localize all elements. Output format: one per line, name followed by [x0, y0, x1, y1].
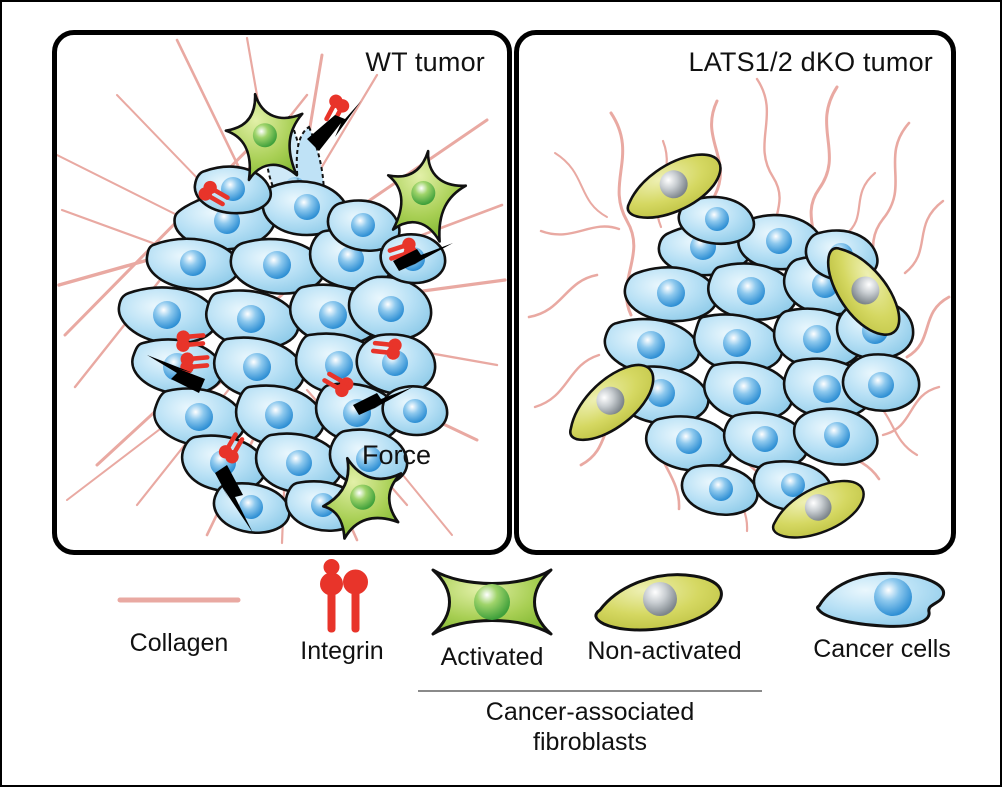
- caf-group-line2: fibroblasts: [395, 728, 785, 758]
- caf-group-bracket: Cancer-associated fibroblasts: [395, 690, 785, 757]
- force-label: Force: [362, 440, 431, 471]
- legend-item-cancer-cells: Cancer cells: [772, 564, 992, 662]
- panel-dko-title: LATS1/2 dKO tumor: [688, 47, 933, 78]
- panel-dko-tumor: LATS1/2 dKO tumor: [514, 30, 956, 555]
- nonactivated-fibroblast-icon: [547, 566, 782, 638]
- legend-item-nonactivated-caf: Non-activated: [547, 566, 782, 664]
- cancer-cell-cluster-dko: [605, 197, 919, 515]
- legend-label-cancer-cells: Cancer cells: [772, 636, 992, 662]
- legend-label-nonactivated: Non-activated: [547, 638, 782, 664]
- panel-wt-title: WT tumor: [365, 47, 485, 78]
- caf-group-rule: [418, 690, 762, 692]
- figure-legend: Collagen Integrin: [2, 558, 1002, 788]
- caf-group-line1: Cancer-associated: [395, 698, 785, 728]
- wt-tumor-illustration: [57, 35, 507, 550]
- panel-wt-tumor: WT tumor Force: [52, 30, 512, 555]
- figure-root: WT tumor Force: [0, 0, 1002, 787]
- dko-tumor-illustration: [519, 35, 956, 550]
- cancer-cell-icon: [772, 564, 992, 636]
